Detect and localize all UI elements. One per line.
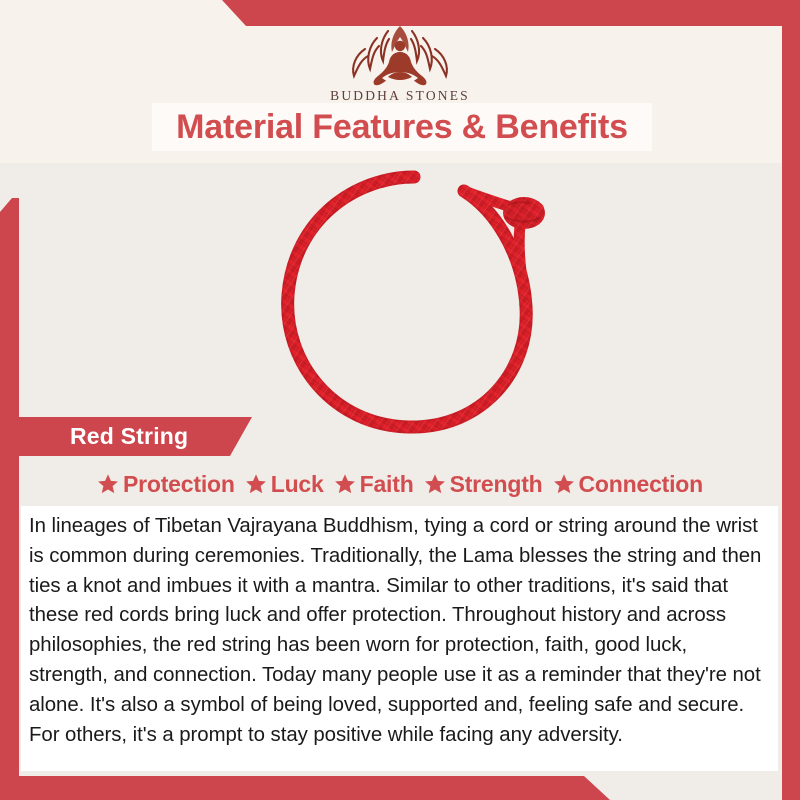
- feature-item-luck: Luck: [241, 473, 328, 496]
- feature-label: Connection: [579, 473, 704, 496]
- star-icon: [553, 473, 575, 495]
- feature-label: Strength: [450, 473, 543, 496]
- infographic-page: BUDDHA STONES Material Features & Benefi…: [0, 0, 800, 800]
- description-card: In lineages of Tibetan Vajrayana Buddhis…: [21, 506, 778, 771]
- feature-item-connection: Connection: [549, 473, 708, 496]
- star-icon: [424, 473, 446, 495]
- feature-label: Faith: [360, 473, 414, 496]
- decorative-bottom-red-bar: [0, 776, 610, 800]
- product-photo: [0, 163, 800, 418]
- description-text: In lineages of Tibetan Vajrayana Buddhis…: [29, 512, 770, 750]
- product-name: Red String: [70, 419, 188, 454]
- red-string-bracelet-image: [268, 167, 560, 439]
- star-icon: [245, 473, 267, 495]
- lotus-meditation-icon: [325, 16, 475, 86]
- feature-item-faith: Faith: [330, 473, 418, 496]
- brand-logo: BUDDHA STONES: [0, 16, 800, 104]
- feature-label: Protection: [123, 473, 235, 496]
- star-icon: [334, 473, 356, 495]
- feature-item-protection: Protection: [93, 473, 239, 496]
- page-title: Material Features & Benefits: [176, 110, 628, 144]
- star-icon: [97, 473, 119, 495]
- brand-name: BUDDHA STONES: [0, 88, 800, 104]
- feature-label: Luck: [271, 473, 324, 496]
- page-title-box: Material Features & Benefits: [152, 103, 652, 151]
- feature-list: Protection Luck Faith Strength Connectio…: [22, 466, 778, 502]
- feature-item-strength: Strength: [420, 473, 547, 496]
